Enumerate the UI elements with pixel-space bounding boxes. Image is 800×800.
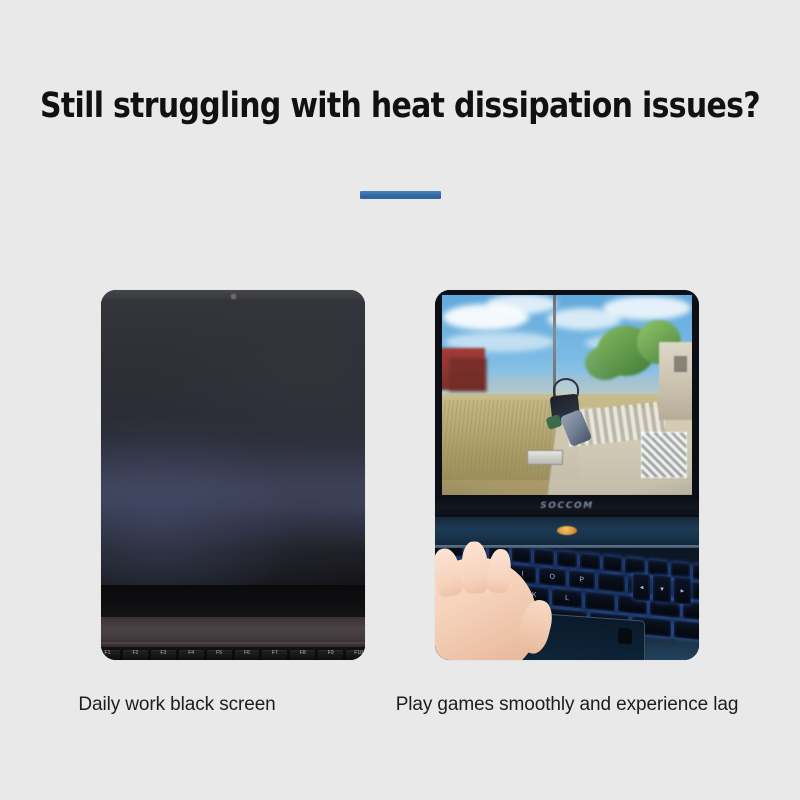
keyboard-key: F7 xyxy=(262,650,287,660)
keyboard-key xyxy=(598,573,625,593)
keyboard-key xyxy=(683,601,699,621)
keyboard-key: F10 xyxy=(346,650,365,660)
image-card-daily-work[interactable]: F1F2F3F4F5F6F7F8F9F10 1234567890 QWERTYU… xyxy=(101,290,365,660)
keyboard-key xyxy=(674,620,699,641)
page-root: Still struggling with heat dissipation i… xyxy=(0,0,800,800)
laptop-display-panel xyxy=(101,290,365,585)
webcam-icon xyxy=(231,294,236,299)
fingerprint-sensor-icon xyxy=(618,628,632,645)
screen-glare xyxy=(101,440,365,550)
keyboard-key xyxy=(580,553,600,570)
arrow-key-cluster: ◂▾▸ xyxy=(633,573,691,604)
keyboard-key: ▾ xyxy=(653,575,670,603)
keyboard-key: F3 xyxy=(151,650,176,660)
keyboard-key: F5 xyxy=(207,650,232,660)
card-row: F1F2F3F4F5F6F7F8F9F10 1234567890 QWERTYU… xyxy=(0,290,800,660)
keyboard-key: L xyxy=(552,589,582,609)
laptop-brand-logo: SOCCOM xyxy=(540,501,594,511)
keyboard-key xyxy=(557,551,577,568)
screen-vignette xyxy=(435,290,699,495)
keyboard-key xyxy=(603,555,623,572)
keyboard-key: F2 xyxy=(123,650,148,660)
caption-daily-work: Daily work black screen xyxy=(33,694,321,716)
page-title: Still struggling with heat dissipation i… xyxy=(20,86,780,126)
keyboard-key: F6 xyxy=(235,650,260,660)
keyboard-key: O xyxy=(539,567,566,587)
keyboard-key xyxy=(625,558,645,575)
keyboard-key: F8 xyxy=(290,650,315,660)
display-bottom-bezel: SOCCOM xyxy=(435,495,699,517)
keyboard-key: F1 xyxy=(101,650,120,660)
photo-laptop-black-screen: F1F2F3F4F5F6F7F8F9F10 1234567890 QWERTYU… xyxy=(101,290,365,660)
display-right-bezel xyxy=(692,290,699,495)
keyboard-key: ▸ xyxy=(674,577,691,605)
keyboard-key: P xyxy=(569,570,596,590)
display-top-bezel xyxy=(435,290,699,295)
blue-divider-bar xyxy=(360,191,441,199)
keyboard-key: ◂ xyxy=(633,573,650,601)
display-lower-shadow xyxy=(101,585,365,617)
keyboard-key xyxy=(585,592,615,612)
keyboard-key: F9 xyxy=(318,650,343,660)
keyboard-key: F4 xyxy=(179,650,204,660)
keyboard-key xyxy=(534,549,554,566)
game-display-panel xyxy=(435,290,699,495)
image-card-gaming[interactable]: SOCCOM TYUIOP GHJKL BNM ◂▾▸ xyxy=(435,290,699,660)
photo-gaming-laptop: SOCCOM TYUIOP GHJKL BNM ◂▾▸ xyxy=(435,290,699,660)
keyboard-function-row: F1F2F3F4F5F6F7F8F9F10 xyxy=(101,650,365,660)
keyboard-key xyxy=(693,564,699,581)
caption-row: Daily work black screen Play games smoot… xyxy=(0,694,800,716)
laptop-keyboard: F1F2F3F4F5F6F7F8F9F10 1234567890 QWERTYU… xyxy=(101,647,365,660)
display-left-bezel xyxy=(435,290,442,495)
divider-container xyxy=(0,191,800,199)
finger xyxy=(461,541,489,594)
power-indicator-icon xyxy=(557,526,577,535)
caption-gaming: Play games smoothly and experience lag xyxy=(367,694,767,716)
keyboard-key xyxy=(512,548,532,564)
